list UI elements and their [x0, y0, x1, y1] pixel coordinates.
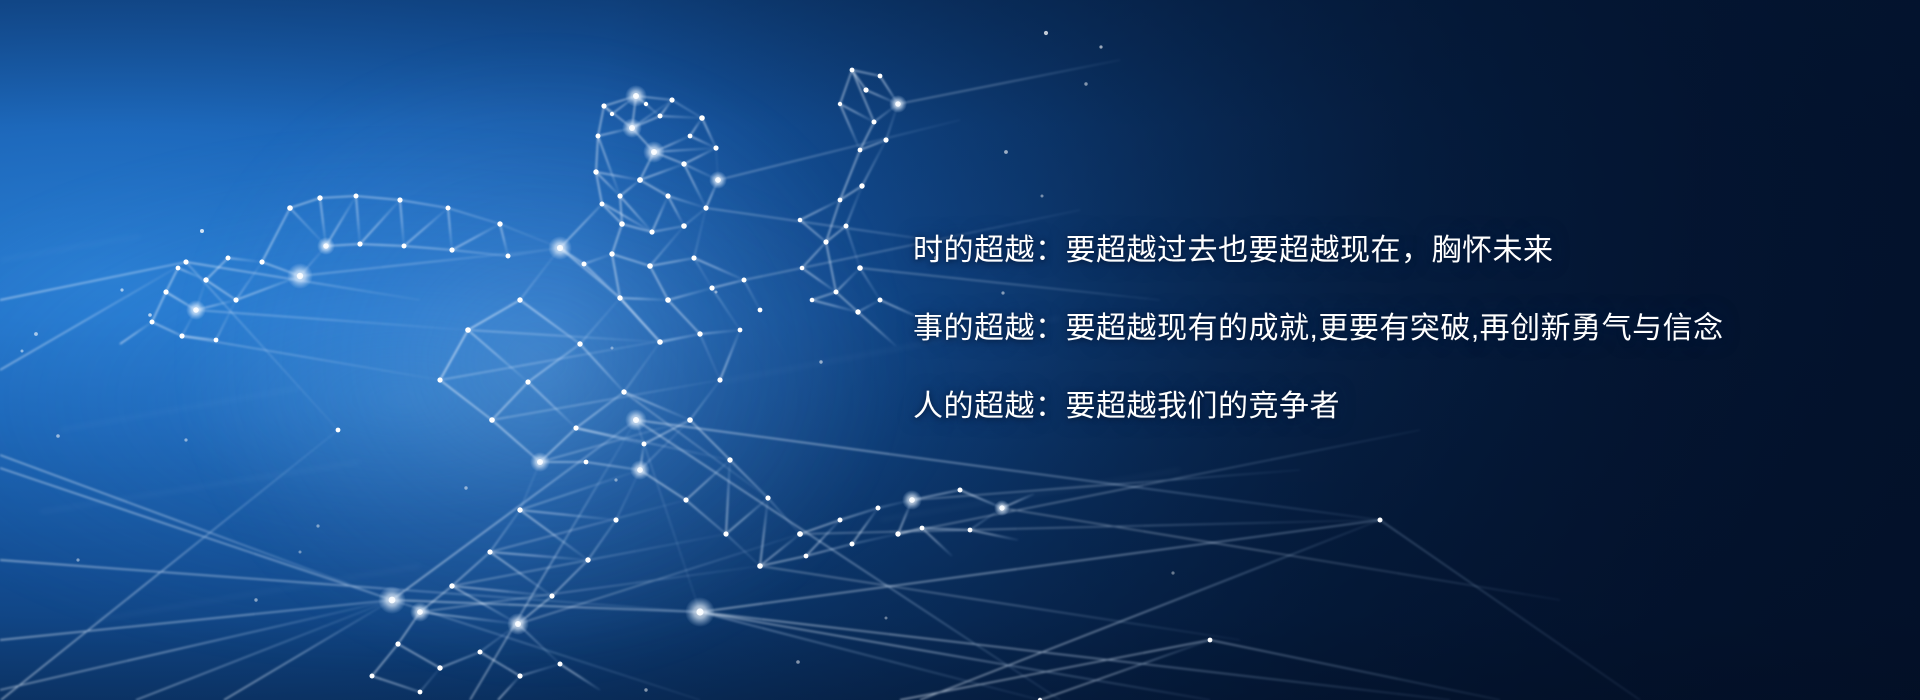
banner-text-line-3: 人的超越：要超越我们的竞争者	[913, 392, 1853, 422]
runner-leg-back	[640, 420, 1034, 566]
banner-text-line-2: 事的超越：要超越现有的成就,更要有突破,再创新勇气与信念	[913, 314, 1853, 344]
runner-leg-front	[372, 462, 640, 700]
hero-banner: 时的超越：要超越过去也要超越现在，胸怀未来 事的超越：要超越现有的成就,更要有突…	[0, 0, 1920, 700]
node-glows	[186, 85, 1010, 635]
runner-torso	[440, 248, 740, 470]
runner-arm-front	[120, 196, 560, 344]
runner-head-mesh	[596, 96, 718, 232]
banner-text-line-1: 时的超越：要超越过去也要超越现在，胸怀未来	[913, 236, 1853, 266]
runner-detail-links	[182, 248, 800, 624]
banner-text-block: 时的超越：要超越过去也要超越现在，胸怀未来 事的超越：要超越现有的成就,更要有突…	[913, 236, 1853, 422]
